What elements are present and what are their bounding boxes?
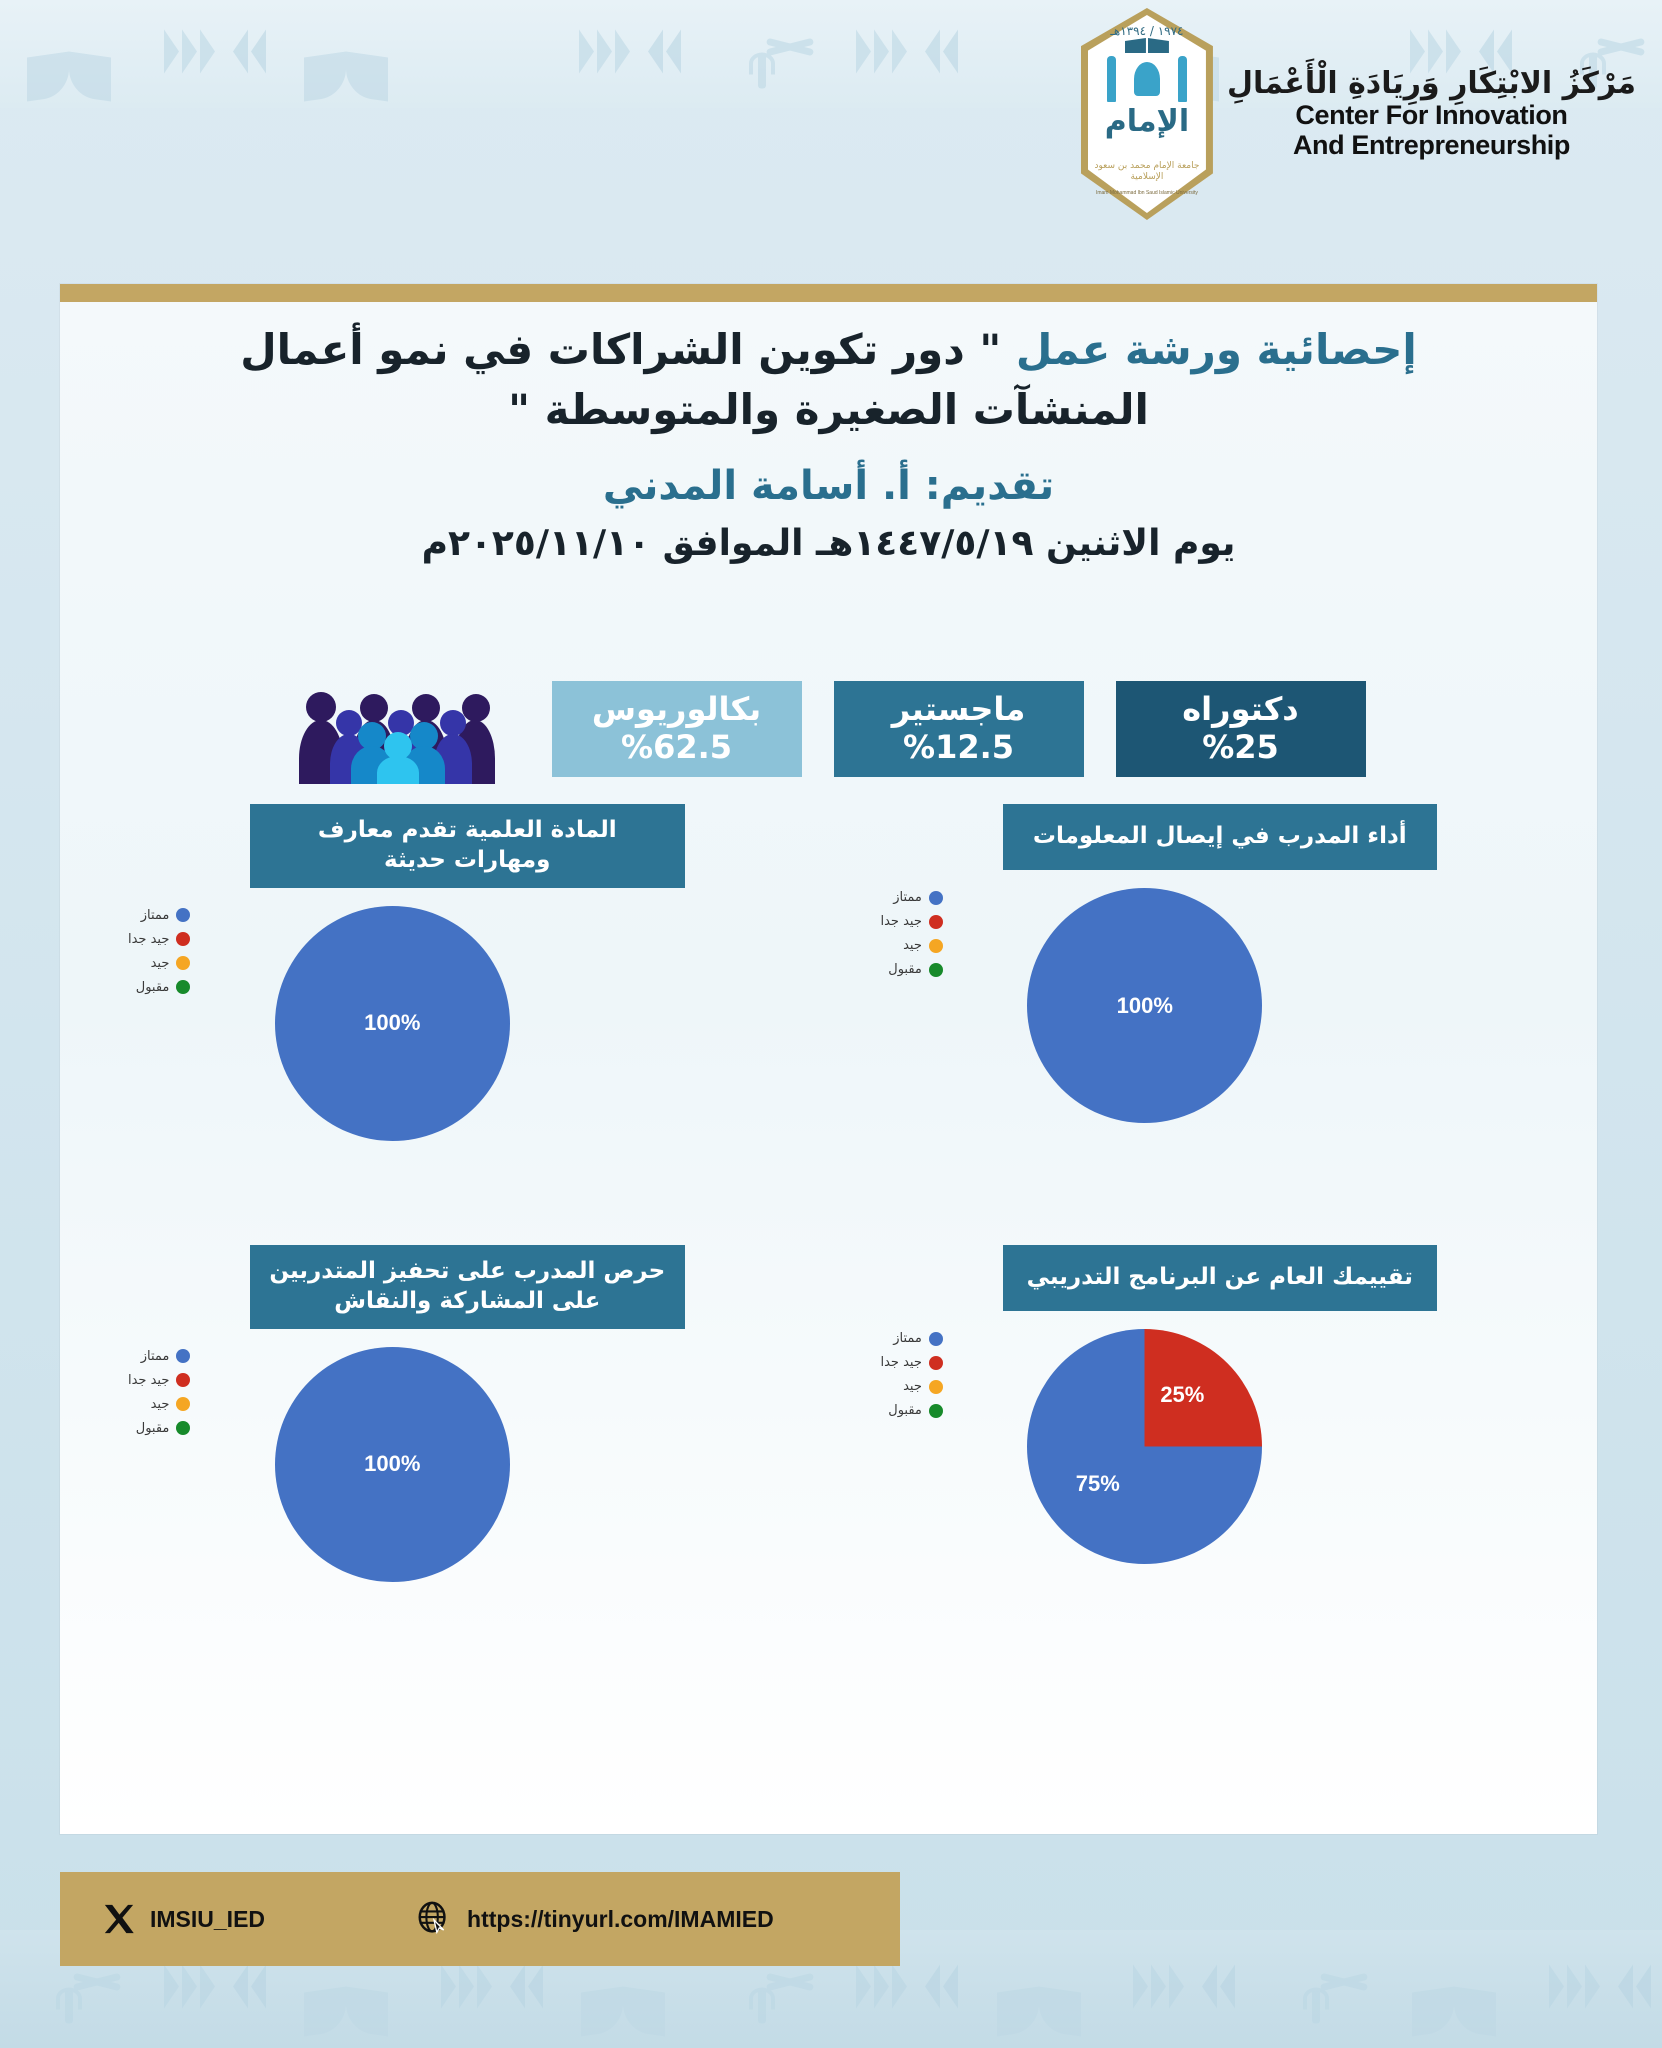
footer-twitter[interactable]: IMSIU_IED — [102, 1902, 265, 1936]
legend-label: مقبول — [888, 1403, 922, 1418]
pie-chart: 100% — [1027, 888, 1262, 1123]
chart-legend: ممتاز جيد جدا جيد مقبول — [128, 1349, 190, 1445]
legend-item: ممتاز — [128, 908, 190, 923]
pie-chart: 100% — [275, 906, 510, 1141]
page-title-accent: إحصائية ورشة عمل — [1016, 325, 1417, 374]
legend-color-swatch — [929, 891, 943, 905]
shield-book-icon — [1125, 38, 1169, 54]
x-twitter-icon — [102, 1902, 136, 1936]
degree-stat-masters: ماجستير %12.5 — [834, 681, 1084, 777]
legend-item: ممتاز — [881, 890, 943, 905]
presenter-line: تقديم: أ. أسامة المدني — [170, 463, 1487, 509]
page-title: إحصائية ورشة عمل " دور تكوين الشراكات في… — [170, 320, 1487, 439]
title-block: إحصائية ورشة عمل " دور تكوين الشراكات في… — [60, 320, 1597, 564]
legend-item: جيد جدا — [128, 1373, 190, 1388]
pie-chart: 100% — [275, 1347, 510, 1582]
legend-label: ممتاز — [141, 1349, 170, 1364]
legend-label: جيد — [903, 938, 922, 953]
legend-item: مقبول — [881, 962, 943, 977]
poster-page: مَرْكَزُ الابْتِكَارِ وَرِيَادَةِ الْأَع… — [0, 0, 1662, 2048]
shield-dome-icon — [1134, 62, 1160, 96]
shield-minaret-right-icon — [1178, 56, 1187, 102]
legend-label: ممتاز — [893, 1331, 922, 1346]
brand-name-en-line1: Center For Innovation — [1227, 102, 1636, 129]
gold-divider — [60, 284, 1597, 302]
university-shield-logo: ١٩٧٤ / ١٣٩٤هـ الإمام جامعة الإمام محمد ب… — [1081, 8, 1213, 220]
brand-name-en-line2: And Entrepreneurship — [1227, 132, 1636, 159]
shield-minaret-left-icon — [1107, 56, 1116, 102]
legend-color-swatch — [929, 1380, 943, 1394]
degree-label: بكالوريوس — [592, 691, 761, 729]
content-card: إحصائية ورشة عمل " دور تكوين الشراكات في… — [60, 284, 1597, 1834]
legend-item: جيد جدا — [128, 932, 190, 947]
legend-color-swatch — [176, 1349, 190, 1363]
page-title-line1: " دور تكوين الشراكات في نمو أعمال — [240, 325, 1001, 374]
pie-slice-label: 75% — [1076, 1471, 1120, 1497]
legend-item: جيد — [128, 956, 190, 971]
chart-card-trainer-delivery: أداء المدرب في إيصال المعلومات ممتاز جيد… — [873, 804, 1538, 1223]
legend-color-swatch — [176, 1397, 190, 1411]
ornament-chevrons — [850, 20, 950, 89]
legend-color-swatch — [176, 1421, 190, 1435]
ornament-chevrons — [158, 20, 258, 89]
shield-university-arabic: جامعة الإمام محمد بن سعود الإسلامية — [1087, 161, 1207, 182]
shield-university-english: Imam Mohammad Ibn Saud Islamic Universit… — [1085, 191, 1209, 197]
legend-label: مقبول — [136, 980, 170, 995]
charts-grid: أداء المدرب في إيصال المعلومات ممتاز جيد… — [120, 804, 1537, 1664]
legend-color-swatch — [176, 1373, 190, 1387]
chart-card-participation-motivation: حرص المدرب على تحفيز المتدربين على المشا… — [120, 1245, 785, 1664]
legend-item: مقبول — [881, 1403, 943, 1418]
degree-label: ماجستير — [892, 691, 1025, 729]
chart-title: أداء المدرب في إيصال المعلومات — [1003, 804, 1438, 870]
pie-slice-label: 100% — [1117, 993, 1173, 1019]
degree-value: %62.5 — [621, 729, 732, 767]
footer-twitter-handle: IMSIU_IED — [150, 1906, 265, 1933]
footer-website-url: https://tinyurl.com/IMAMIED — [467, 1906, 774, 1933]
legend-item: مقبول — [128, 980, 190, 995]
legend-label: جيد — [151, 1397, 170, 1412]
legend-color-swatch — [929, 1332, 943, 1346]
degree-stat-doctorate: دكتوراه %25 — [1116, 681, 1366, 777]
chart-card-course-material: المادة العلمية تقدم معارف ومهارات حديثة … — [120, 804, 785, 1223]
ornament-chevrons — [1543, 1955, 1643, 2024]
legend-color-swatch — [929, 1356, 943, 1370]
legend-item: جيد — [128, 1397, 190, 1412]
shield-year: ١٩٧٤ / ١٣٩٤هـ — [1081, 24, 1213, 38]
legend-color-swatch — [176, 980, 190, 994]
pie-slice-label: 100% — [364, 1010, 420, 1036]
legend-label: ممتاز — [141, 908, 170, 923]
chart-title: المادة العلمية تقدم معارف ومهارات حديثة — [250, 804, 685, 888]
degree-stats-row: دكتوراه %25 ماجستير %12.5 بكالوريوس %62.… — [60, 674, 1597, 784]
ornament-chevrons — [1127, 1955, 1227, 2024]
legend-color-swatch — [176, 956, 190, 970]
legend-item: جيد جدا — [881, 914, 943, 929]
legend-label: مقبول — [136, 1421, 170, 1436]
legend-color-swatch — [929, 1404, 943, 1418]
legend-item: ممتاز — [128, 1349, 190, 1364]
pie-chart: 25% 75% — [1027, 1329, 1262, 1564]
brand-logo-text: مَرْكَزُ الابْتِكَارِ وَرِيَادَةِ الْأَع… — [1227, 69, 1636, 159]
legend-label: ممتاز — [893, 890, 922, 905]
degree-value: %25 — [1202, 729, 1279, 767]
chart-plot-area: ممتاز جيد جدا جيد مقبول — [120, 1329, 785, 1629]
chart-plot-area: ممتاز جيد جدا جيد مقبول — [120, 888, 785, 1188]
chart-card-overall-rating: تقييمك العام عن البرنامج التدريبي ممتاز … — [873, 1245, 1538, 1664]
chart-legend: ممتاز جيد جدا جيد مقبول — [881, 1331, 943, 1427]
globe-cursor-icon — [415, 1900, 453, 1938]
legend-label: جيد — [903, 1379, 922, 1394]
chart-title: تقييمك العام عن البرنامج التدريبي — [1003, 1245, 1438, 1311]
footer-website[interactable]: https://tinyurl.com/IMAMIED — [415, 1900, 774, 1938]
date-line: يوم الاثنين ١٤٤٧/٥/١٩هـ الموافق ٢٠٢٥/١١/… — [170, 523, 1487, 564]
legend-item: جيد جدا — [881, 1355, 943, 1370]
legend-label: جيد جدا — [128, 932, 169, 947]
legend-item: جيد — [881, 938, 943, 953]
pie-slice-label: 25% — [1160, 1382, 1204, 1408]
legend-label: جيد جدا — [881, 914, 922, 929]
legend-color-swatch — [929, 915, 943, 929]
chart-legend: ممتاز جيد جدا جيد مقبول — [881, 890, 943, 986]
legend-label: جيد جدا — [128, 1373, 169, 1388]
legend-item: مقبول — [128, 1421, 190, 1436]
pie-slice-label: 100% — [364, 1451, 420, 1477]
footer-contact-strip: IMSIU_IED https://tinyurl.com/IMAMIED — [60, 1872, 900, 1966]
brand-logo: مَرْكَزُ الابْتِكَارِ وَرِيَادَةِ الْأَع… — [1081, 8, 1636, 220]
chart-legend: ممتاز جيد جدا جيد مقبول — [128, 908, 190, 1004]
audience-group-icon — [292, 674, 492, 784]
legend-item: جيد — [881, 1379, 943, 1394]
shield-calligraphy: الإمام — [1081, 104, 1213, 139]
page-title-line2: المنشآت الصغيرة والمتوسطة " — [508, 385, 1149, 434]
legend-label: مقبول — [888, 962, 922, 977]
ornament-chevrons — [573, 20, 673, 89]
legend-label: جيد — [151, 956, 170, 971]
chart-plot-area: ممتاز جيد جدا جيد مقبول — [873, 870, 1538, 1170]
chart-plot-area: ممتاز جيد جدا جيد مقبول — [873, 1311, 1538, 1611]
legend-color-swatch — [929, 963, 943, 977]
chart-title: حرص المدرب على تحفيز المتدربين على المشا… — [250, 1245, 685, 1329]
degree-stat-bachelors: بكالوريوس %62.5 — [552, 681, 802, 777]
brand-name-arabic: مَرْكَزُ الابْتِكَارِ وَرِيَادَةِ الْأَع… — [1227, 69, 1636, 99]
legend-color-swatch — [176, 932, 190, 946]
legend-color-swatch — [176, 908, 190, 922]
legend-label: جيد جدا — [881, 1355, 922, 1370]
degree-label: دكتوراه — [1182, 691, 1298, 729]
pie-slices — [1027, 1329, 1262, 1564]
legend-item: ممتاز — [881, 1331, 943, 1346]
degree-value: %12.5 — [903, 729, 1014, 767]
legend-color-swatch — [929, 939, 943, 953]
